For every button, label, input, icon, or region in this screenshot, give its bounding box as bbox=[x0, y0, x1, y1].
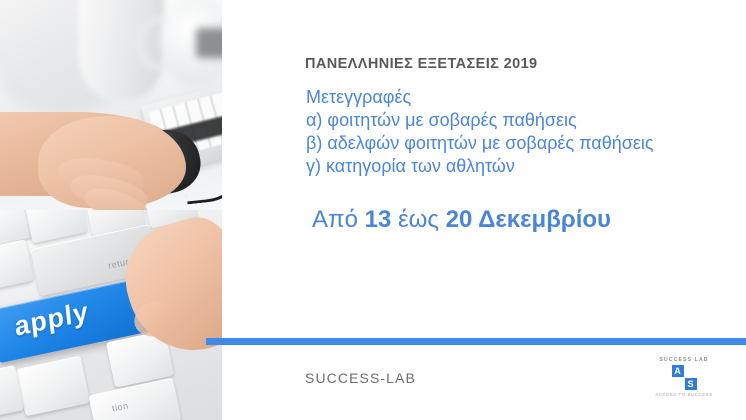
date-range-text: Από 13 έως 20 Δεκεμβρίου bbox=[312, 206, 611, 234]
body-text-block: Μετεγγραφές α) φοιτητών με σοβαρές παθήσ… bbox=[306, 86, 654, 178]
mouse-cord bbox=[185, 174, 222, 205]
logo-tagline: ACCESS TO SUCCESS bbox=[652, 392, 716, 398]
body-line-c: γ) κατηγορία των αθλητών bbox=[306, 155, 654, 178]
logo-top-text: SUCCESS LAB bbox=[652, 357, 716, 364]
apply-key-keyboard-photo: return apply tion bbox=[0, 210, 222, 420]
logo-letter-s: S bbox=[685, 378, 697, 390]
logo-letter-a: A bbox=[672, 365, 684, 377]
logo-quadrant-d: S bbox=[685, 378, 697, 390]
blurred-dark-object bbox=[196, 28, 222, 58]
date-middle: έως bbox=[391, 206, 445, 233]
date-start-day: 13 bbox=[365, 206, 392, 233]
body-line-b: β) αδελφών φοιτητών με σοβαρές παθήσεις bbox=[306, 132, 654, 155]
blurred-cup bbox=[78, 0, 164, 100]
page-title: ΠΑΝΕΛΛΗΝΙΕΣ ΕΞΕΤΑΣΕΙΣ 2019 bbox=[305, 56, 538, 72]
footer-brand-text: SUCCESS-LAB bbox=[305, 370, 416, 386]
body-line-title: Μετεγγραφές bbox=[306, 86, 654, 109]
hand-on-computer-mouse-photo bbox=[0, 0, 222, 210]
logo-quadrant-b bbox=[685, 365, 697, 377]
presentation-slide: return apply tion ΠΑΝΕΛΛΗΝΙΕΣ ΕΞΕΤΑΣΕΙΣ … bbox=[0, 0, 746, 420]
success-lab-logo: SUCCESS LAB A S ACCESS TO SUCCESS bbox=[652, 357, 716, 405]
logo-quadrant-c bbox=[672, 378, 684, 390]
photo-column: return apply tion bbox=[0, 0, 222, 420]
slide-content: ΠΑΝΕΛΛΗΝΙΕΣ ΕΞΕΤΑΣΕΙΣ 2019 Μετεγγραφές α… bbox=[222, 0, 746, 420]
body-line-a: α) φοιτητών με σοβαρές παθήσεις bbox=[306, 109, 654, 132]
blue-divider-bar bbox=[222, 338, 746, 345]
logo-quadrant-a: A bbox=[672, 365, 684, 377]
logo-mark-icon: A S bbox=[672, 365, 697, 390]
date-prefix: Από bbox=[312, 206, 365, 233]
date-end: 20 Δεκεμβρίου bbox=[446, 206, 611, 233]
